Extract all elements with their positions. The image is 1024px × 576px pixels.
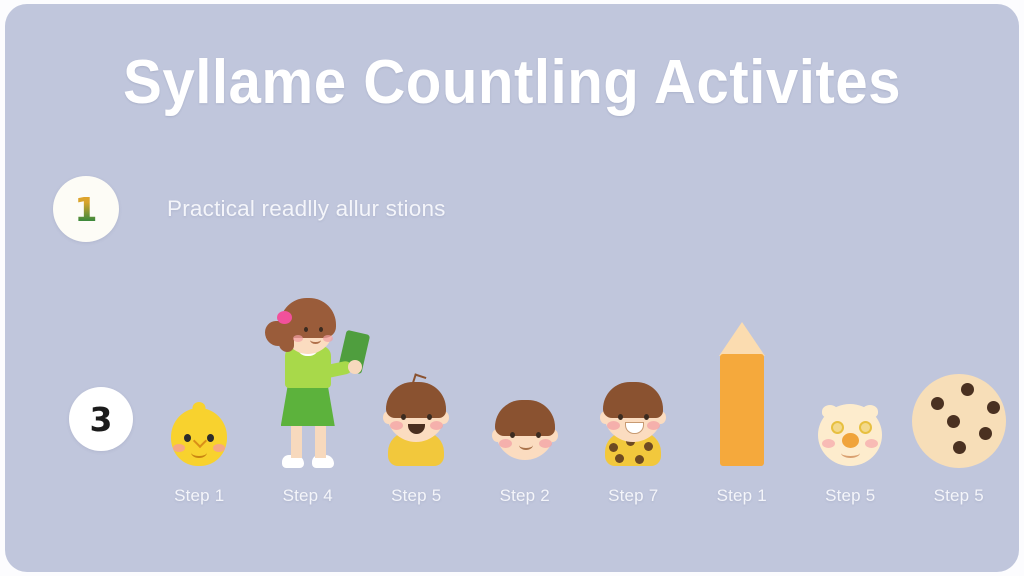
- figure-caption: Step 1: [717, 486, 767, 506]
- figure-caption: Step 7: [608, 486, 658, 506]
- figure-caption: Step 4: [283, 486, 333, 506]
- girl-with-book-icon: [254, 294, 363, 472]
- step-one-row: 1 Practical readlly allur stions: [53, 176, 446, 242]
- figure-caption: Step 5: [825, 486, 875, 506]
- chick-icon: [145, 294, 254, 472]
- page-title: Syllame Countling Activites: [35, 44, 988, 122]
- pencil-icon: [688, 294, 797, 472]
- figure-item: Step 4: [254, 276, 363, 506]
- figure-item: Step 5: [796, 276, 905, 506]
- figure-item: Step 1: [688, 276, 797, 506]
- pig-face-icon: [796, 294, 905, 472]
- figure-caption: Step 5: [934, 486, 984, 506]
- activity-card: Syllame Countling Activites 1 Practical …: [5, 4, 1019, 572]
- figure-caption: Step 2: [500, 486, 550, 506]
- step-badge-1-number: 1: [75, 190, 98, 229]
- figure-item: Step 5: [362, 276, 471, 506]
- step-badge-1: 1: [53, 176, 119, 242]
- figure-item: Step 2: [471, 276, 580, 506]
- figure-caption: Step 5: [391, 486, 441, 506]
- figure-item: Step 7: [579, 276, 688, 506]
- boy-head-icon: [471, 294, 580, 472]
- figure-caption: Step 1: [174, 486, 224, 506]
- boy-yellow-shirt-icon: [362, 294, 471, 472]
- step-badge-3-number: 3: [90, 400, 113, 439]
- step-one-description: Practical readlly allur stions: [167, 196, 446, 222]
- screenshot-root: Syllame Countling Activites 1 Practical …: [0, 0, 1024, 576]
- figure-item: Step 1: [145, 276, 254, 506]
- step-badge-3: 3: [69, 387, 133, 451]
- figure-item: Step 5: [905, 276, 1014, 506]
- figure-strip: Step 1: [145, 276, 1013, 506]
- boy-polka-shirt-icon: [579, 294, 688, 472]
- cookie-icon: [905, 294, 1014, 472]
